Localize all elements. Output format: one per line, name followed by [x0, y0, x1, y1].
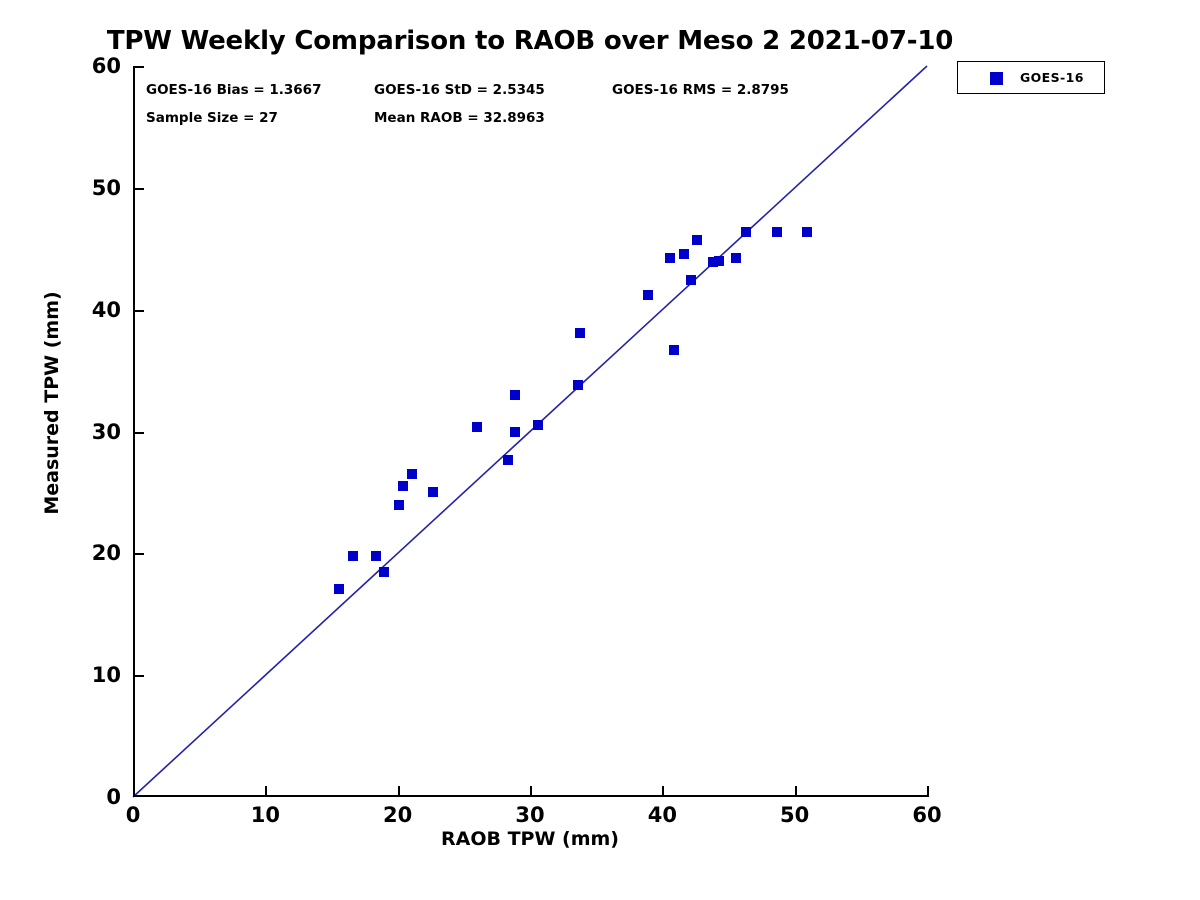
x-tick-label-50: 50 [765, 803, 825, 827]
data-point [334, 584, 344, 594]
data-point [407, 469, 417, 479]
y-tick-label-60: 60 [75, 54, 121, 78]
x-tick-mark-40 [662, 786, 664, 797]
data-point [741, 227, 751, 237]
x-tick-mark-60 [927, 786, 929, 797]
data-point [573, 380, 583, 390]
plot-area [133, 66, 927, 797]
x-tick-label-30: 30 [500, 803, 560, 827]
data-point [665, 253, 675, 263]
y-tick-mark-10 [133, 675, 144, 677]
y-tick-mark-20 [133, 553, 144, 555]
x-tick-label-10: 10 [235, 803, 295, 827]
x-axis-label: RAOB TPW (mm) [133, 828, 927, 850]
y-axis-label: Measured TPW (mm) [41, 83, 63, 723]
data-point [731, 253, 741, 263]
data-point [510, 390, 520, 400]
y-tick-label-40: 40 [75, 298, 121, 322]
y-tick-mark-40 [133, 310, 144, 312]
y-tick-mark-60 [133, 66, 144, 68]
legend[interactable]: GOES-16 [957, 61, 1105, 94]
data-point [575, 328, 585, 338]
chart-figure: TPW Weekly Comparison to RAOB over Meso … [0, 0, 1200, 900]
data-point [379, 567, 389, 577]
data-point [686, 275, 696, 285]
y-tick-label-10: 10 [75, 663, 121, 687]
legend-label-goes-16: GOES-16 [1020, 70, 1084, 85]
data-point [503, 455, 513, 465]
x-tick-label-0: 0 [103, 803, 163, 827]
data-point [772, 227, 782, 237]
data-point [510, 427, 520, 437]
data-point [348, 551, 358, 561]
x-tick-label-60: 60 [897, 803, 957, 827]
y-tick-mark-50 [133, 188, 144, 190]
chart-title: TPW Weekly Comparison to RAOB over Meso … [0, 26, 1060, 56]
y-tick-mark-30 [133, 432, 144, 434]
data-point [533, 420, 543, 430]
data-point [371, 551, 381, 561]
y-tick-label-30: 30 [75, 420, 121, 444]
data-point [643, 290, 653, 300]
data-point [669, 345, 679, 355]
data-point [428, 487, 438, 497]
legend-swatch-goes-16 [990, 72, 1003, 85]
data-point [394, 500, 404, 510]
y-tick-label-50: 50 [75, 176, 121, 200]
x-tick-mark-50 [795, 786, 797, 797]
x-tick-mark-10 [265, 786, 267, 797]
data-point [679, 249, 689, 259]
y-tick-label-20: 20 [75, 541, 121, 565]
data-point [692, 235, 702, 245]
data-point [802, 227, 812, 237]
x-tick-label-40: 40 [632, 803, 692, 827]
x-tick-mark-20 [398, 786, 400, 797]
data-point [714, 256, 724, 266]
x-tick-label-20: 20 [368, 803, 428, 827]
data-point [472, 422, 482, 432]
x-tick-mark-30 [530, 786, 532, 797]
data-point [398, 481, 408, 491]
